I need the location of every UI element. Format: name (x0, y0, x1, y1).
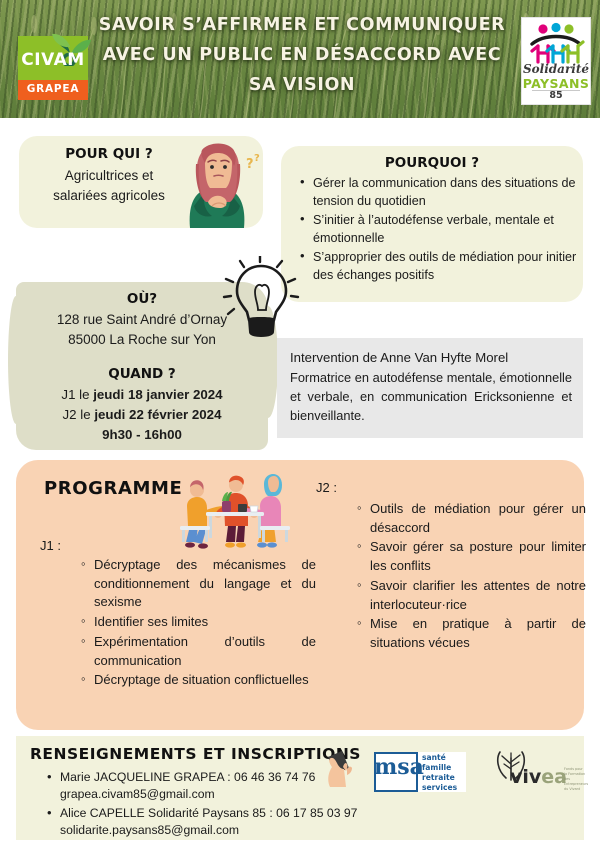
contact-email-2[interactable]: solidarite.paysans85@gmail.com (60, 823, 239, 837)
svg-text:?: ? (246, 157, 254, 172)
date-j1: J1 le jeudi 18 janvier 2024 (16, 385, 268, 405)
vivea-wordmark: vivea (510, 768, 567, 787)
list-item: Marie JACQUELINE GRAPEA : 06 46 36 74 76… (60, 769, 360, 804)
thinking-woman-illustration: ? ? (168, 140, 264, 230)
list-item: Savoir gérer sa posture pour limiter les… (370, 538, 586, 575)
msa-logo: msa santé famille retraite services (374, 752, 466, 792)
programme-title: PROGRAMME (44, 478, 182, 499)
list-item: Gérer la communication dans des situatio… (313, 174, 591, 210)
page-title-line-3: SA VISION (92, 70, 512, 100)
session-hours: 9h30 - 16h00 (16, 425, 268, 445)
page-title-line-1: SAVOIR S’AFFIRMER ET COMMUNIQUER (92, 10, 512, 40)
intervenant-description: Formatrice en autodéfense mentale, émoti… (290, 369, 572, 425)
contact-list: Marie JACQUELINE GRAPEA : 06 46 36 74 76… (44, 769, 360, 840)
solidarite-wordmark: Solidarité (522, 62, 590, 76)
intervenant-name: Intervention de Anne Van Hyfte Morel (290, 349, 572, 367)
list-item: Décryptage des mécanismes de conditionne… (94, 556, 316, 612)
vivea-tagline: Fonds pour la Formation des Entrepreneur… (564, 767, 590, 793)
msa-service-1: santé (422, 753, 466, 763)
contact-title: RENSEIGNEMENTS ET INSCRIPTIONS (30, 745, 361, 763)
pourquoi-title: POURQUOI ? (281, 155, 583, 171)
list-item: Décryptage de situation conflictuelles (94, 671, 316, 690)
programme-j1-label: J1 : (40, 538, 61, 553)
svg-text:?: ? (254, 153, 260, 164)
header-banner: SAVOIR S’AFFIRMER ET COMMUNIQUER AVEC UN… (0, 0, 600, 118)
solidarite-paysans-logo: Solidarité PAYSANS 85 (521, 17, 591, 105)
date-j2: J2 le jeudi 22 février 2024 (16, 405, 268, 425)
programme-j2-list: Outils de médiation pour gérer un désacc… (354, 500, 586, 654)
quand-dates: J1 le jeudi 18 janvier 2024 J2 le jeudi … (16, 385, 268, 446)
list-item: Identifier ses limites (94, 613, 316, 632)
page-title: SAVOIR S’AFFIRMER ET COMMUNIQUER AVEC UN… (92, 10, 512, 100)
vivea-tagline-4: du Vivant (564, 787, 590, 792)
msa-wordmark: msa (374, 756, 418, 778)
programme-j1-list: Décryptage des mécanismes de conditionne… (78, 556, 316, 691)
list-item: Savoir clarifier les attentes de notre i… (370, 577, 586, 614)
contact-name-1: Marie JACQUELINE GRAPEA : 06 46 36 74 76 (60, 770, 315, 784)
people-at-table-illustration (172, 468, 296, 550)
date-j2-prefix: J2 le (63, 407, 95, 422)
contact-name-2: Alice CAPELLE Solidarité Paysans 85 : 06… (60, 806, 357, 820)
civam-grapea-logo: CIVAM GRAPEA (18, 24, 88, 100)
intervention-card: Intervention de Anne Van Hyfte Morel For… (277, 338, 583, 438)
list-item: S’approprier des outils de médiation pou… (313, 248, 591, 284)
page-title-line-2: AVEC UN PUBLIC EN DÉSACCORD AVEC (92, 40, 512, 70)
contact-email-1[interactable]: grapea.civam85@gmail.com (60, 787, 215, 801)
programme-card: PROGRAMME J1 : Décryptage des mécanismes… (16, 460, 584, 730)
vivea-logo: vivea Fonds pour la Formation des Entrep… (492, 748, 588, 796)
list-item: S’initier à l’autodéfense verbale, menta… (313, 211, 591, 247)
date-j1-value: jeudi 18 janvier 2024 (93, 387, 222, 402)
vivea-tagline-3: des Entrepreneurs (564, 777, 590, 787)
list-item: Alice CAPELLE Solidarité Paysans 85 : 06… (60, 805, 360, 840)
pourquoi-card: POURQUOI ? Gérer la communication dans d… (281, 146, 583, 302)
solidarite-paysans-figures-icon (522, 20, 590, 66)
paysans-wordmark: PAYSANS (522, 76, 590, 91)
msa-service-3: retraite (422, 773, 466, 783)
date-j2-value: jeudi 22 février 2024 (94, 407, 221, 422)
list-item: Expérimentation d’outils de communicatio… (94, 633, 316, 670)
grapea-wordmark: GRAPEA (18, 83, 88, 95)
vivea-part-1: viv (510, 766, 541, 788)
msa-service-4: services (422, 783, 466, 793)
msa-services-list: santé famille retraite services (422, 753, 466, 793)
departement-number: 85 (522, 90, 590, 101)
list-item: Outils de médiation pour gérer un désacc… (370, 500, 586, 537)
hand-holding-phone-icon (316, 741, 360, 789)
msa-service-2: famille (422, 763, 466, 773)
date-j1-prefix: J1 le (61, 387, 93, 402)
pourquoi-list: Gérer la communication dans des situatio… (297, 174, 591, 285)
list-item: Mise en pratique à partir de situations … (370, 615, 586, 652)
programme-j2-label: J2 : (316, 480, 337, 495)
lightbulb-illustration (222, 256, 302, 340)
quand-title: QUAND ? (16, 366, 268, 382)
poster-root: SAVOIR S’AFFIRMER ET COMMUNIQUER AVEC UN… (0, 0, 600, 849)
civam-wordmark: CIVAM (18, 50, 88, 70)
